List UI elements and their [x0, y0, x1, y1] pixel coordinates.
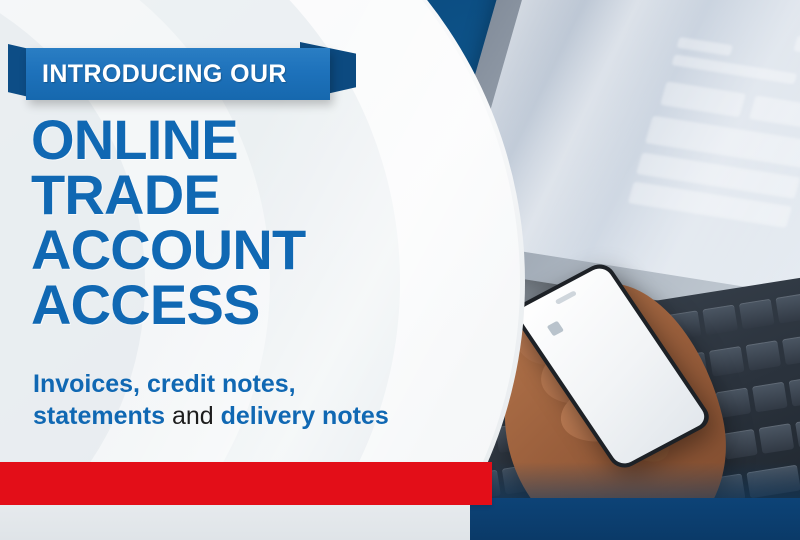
headline-line-4: ACCESS [31, 277, 461, 332]
headline-line-2: TRADE [31, 167, 461, 222]
accent-bar-red [0, 462, 492, 505]
headline-line-1: ONLINE [31, 112, 461, 167]
phone-app-icon [547, 321, 564, 337]
subheading-part-3: delivery notes [221, 402, 389, 430]
subheading-part-2: statements [33, 402, 165, 430]
page-title: ONLINE TRADE ACCOUNT ACCESS [31, 112, 461, 333]
introducing-ribbon: INTRODUCING OUR [0, 40, 360, 112]
promo-banner: INTRODUCING OUR ONLINE TRADE ACCOUNT ACC… [0, 0, 800, 540]
phone-earpiece [555, 290, 577, 305]
headline-line-3: ACCOUNT [31, 222, 461, 277]
subheading-connector: and [165, 402, 221, 430]
ribbon-label: INTRODUCING OUR [26, 60, 287, 89]
subheading: Invoices, credit notes, statements and d… [33, 368, 513, 432]
subheading-part-1: Invoices, credit notes, [33, 370, 296, 398]
ribbon-body: INTRODUCING OUR [26, 48, 330, 100]
footer-strip [0, 505, 470, 540]
